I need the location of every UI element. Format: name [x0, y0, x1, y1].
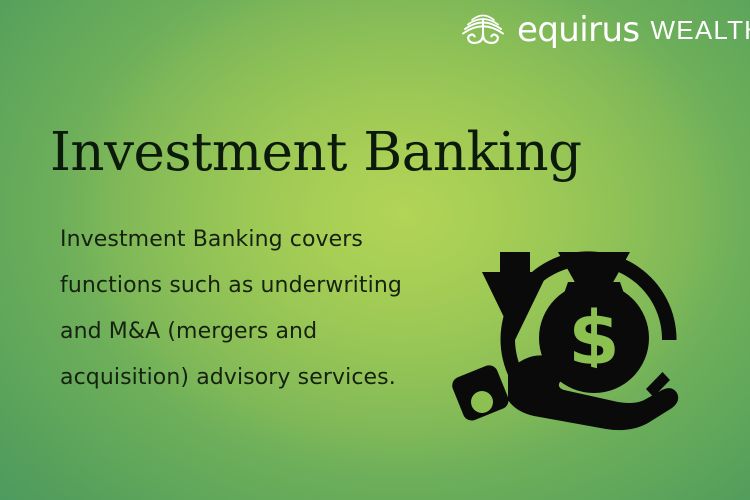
logo-wordmark-equirus: equirus	[517, 13, 640, 47]
page-title: Investment Banking	[50, 125, 582, 181]
money-return-icon: $	[448, 222, 688, 440]
slide-body-text: Investment Banking covers functions such…	[60, 217, 440, 401]
cuff-button	[471, 391, 493, 413]
equirus-banyan-tree-mark-icon	[458, 7, 508, 51]
equirus-wealth-logo: equirus WEALTH	[458, 6, 750, 52]
logo-wordmark-wealth: WEALTH	[651, 17, 750, 43]
slide-canvas: equirus WEALTH Investment Banking Invest…	[0, 0, 750, 500]
